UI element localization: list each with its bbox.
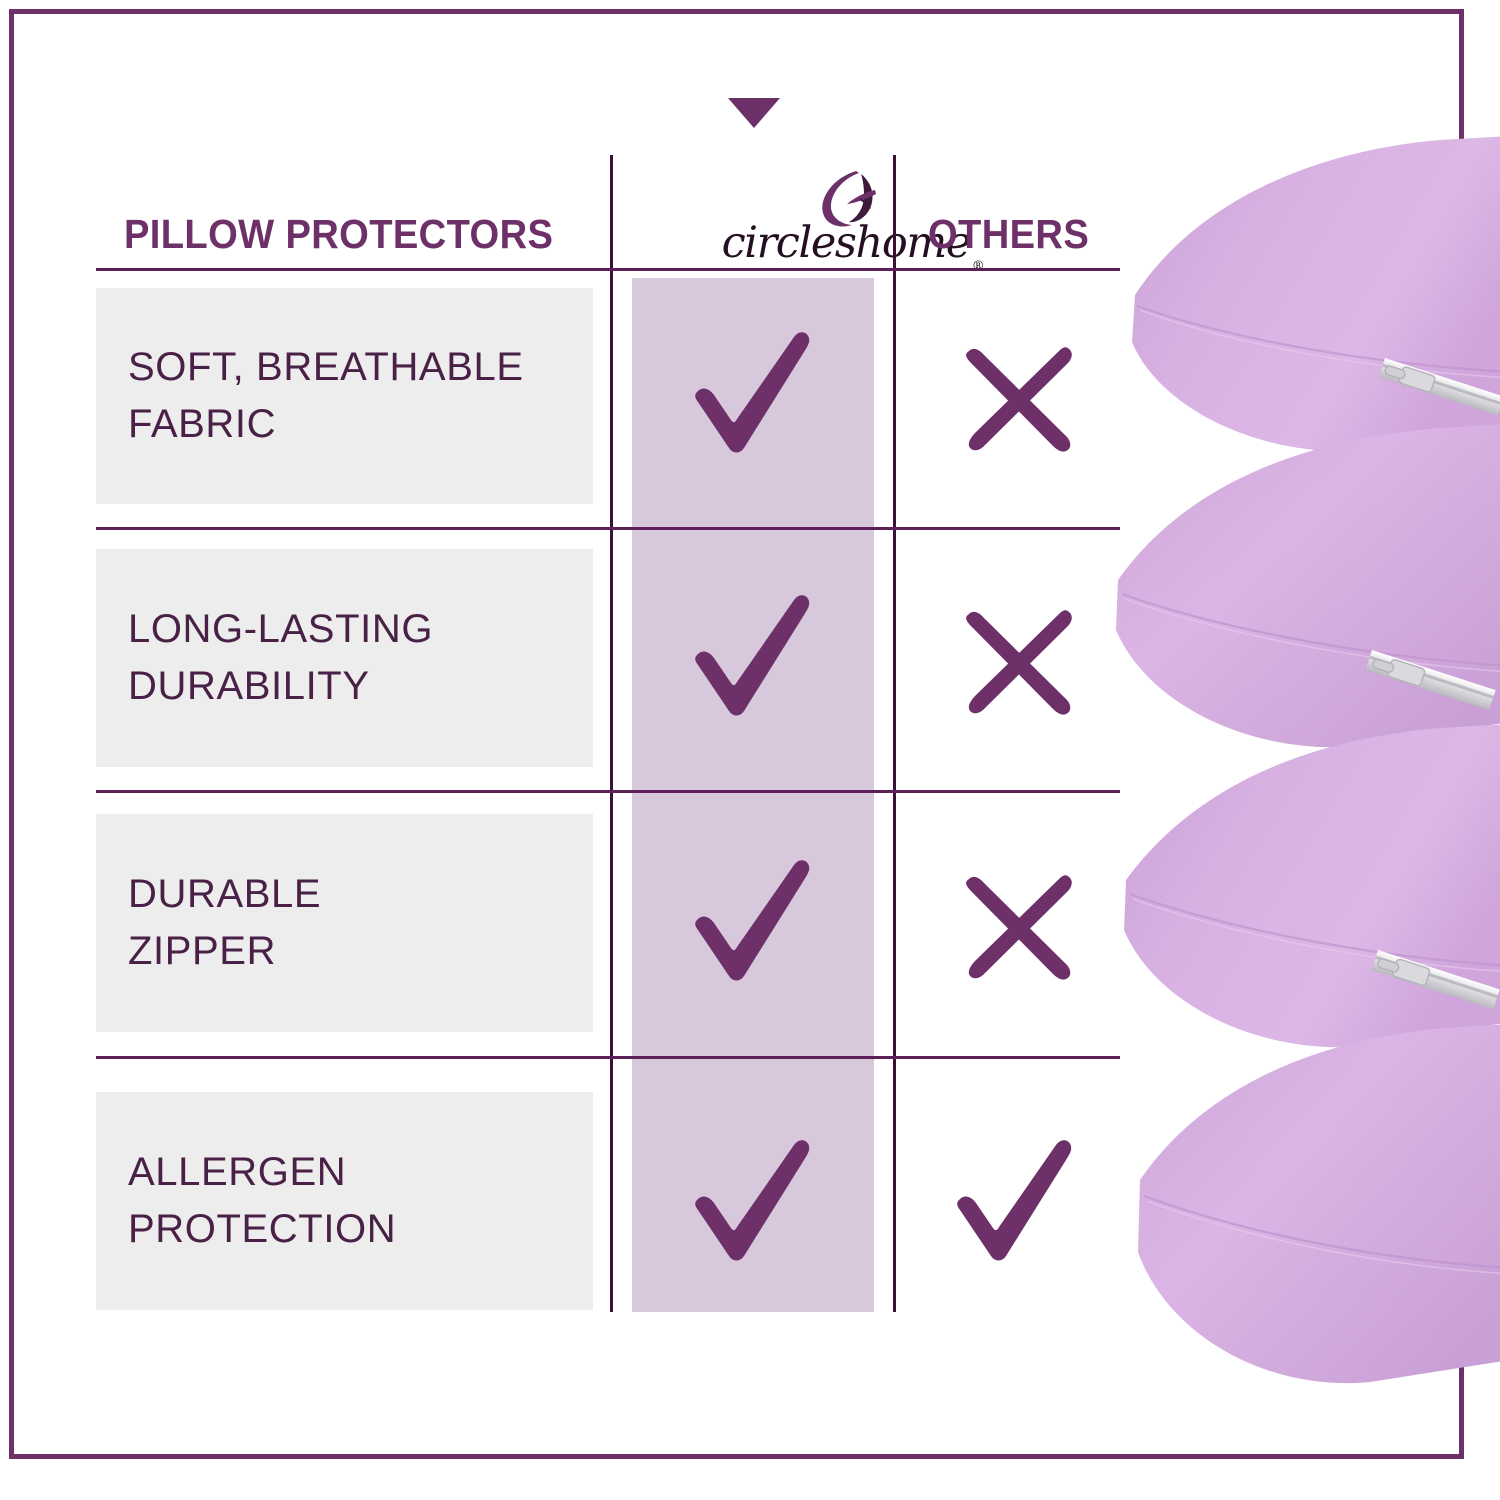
check-icon <box>678 1128 828 1278</box>
table-rule-2 <box>96 790 1120 793</box>
table-row: DURABLE ZIPPER <box>96 814 593 1032</box>
feature-label: SOFT, BREATHABLE FABRIC <box>96 339 524 453</box>
check-icon <box>678 320 828 470</box>
check-icon <box>678 848 828 998</box>
feature-label: ALLERGEN PROTECTION <box>96 1144 396 1258</box>
registered-trademark-icon: ® <box>972 259 984 274</box>
triangle-down-icon <box>728 98 780 128</box>
check-icon <box>940 1128 1090 1278</box>
column-header-others: OTHERS <box>928 211 1089 258</box>
feature-label: LONG-LASTING DURABILITY <box>96 601 433 715</box>
table-header-row: PILLOW PROTECTORS circleshome® OTHERS <box>96 155 1120 270</box>
column-divider-right <box>893 155 896 1312</box>
cross-icon <box>945 325 1095 475</box>
cross-icon <box>945 588 1095 738</box>
check-icon <box>678 583 828 733</box>
comparison-infographic: PILLOW PROTECTORS circleshome® OTHERS <box>0 0 1500 1500</box>
feature-label: DURABLE ZIPPER <box>96 866 321 980</box>
comparison-table: PILLOW PROTECTORS circleshome® OTHERS <box>0 0 1160 1400</box>
cross-icon <box>945 853 1095 1003</box>
column-header-features: PILLOW PROTECTORS <box>124 211 553 258</box>
table-rule-header <box>96 268 1120 271</box>
table-row: LONG-LASTING DURABILITY <box>96 549 593 767</box>
table-rule-1 <box>96 527 1120 530</box>
table-rule-3 <box>96 1056 1120 1059</box>
column-divider-left <box>610 155 613 1312</box>
table-row: ALLERGEN PROTECTION <box>96 1092 593 1310</box>
table-row: SOFT, BREATHABLE FABRIC <box>96 288 593 504</box>
